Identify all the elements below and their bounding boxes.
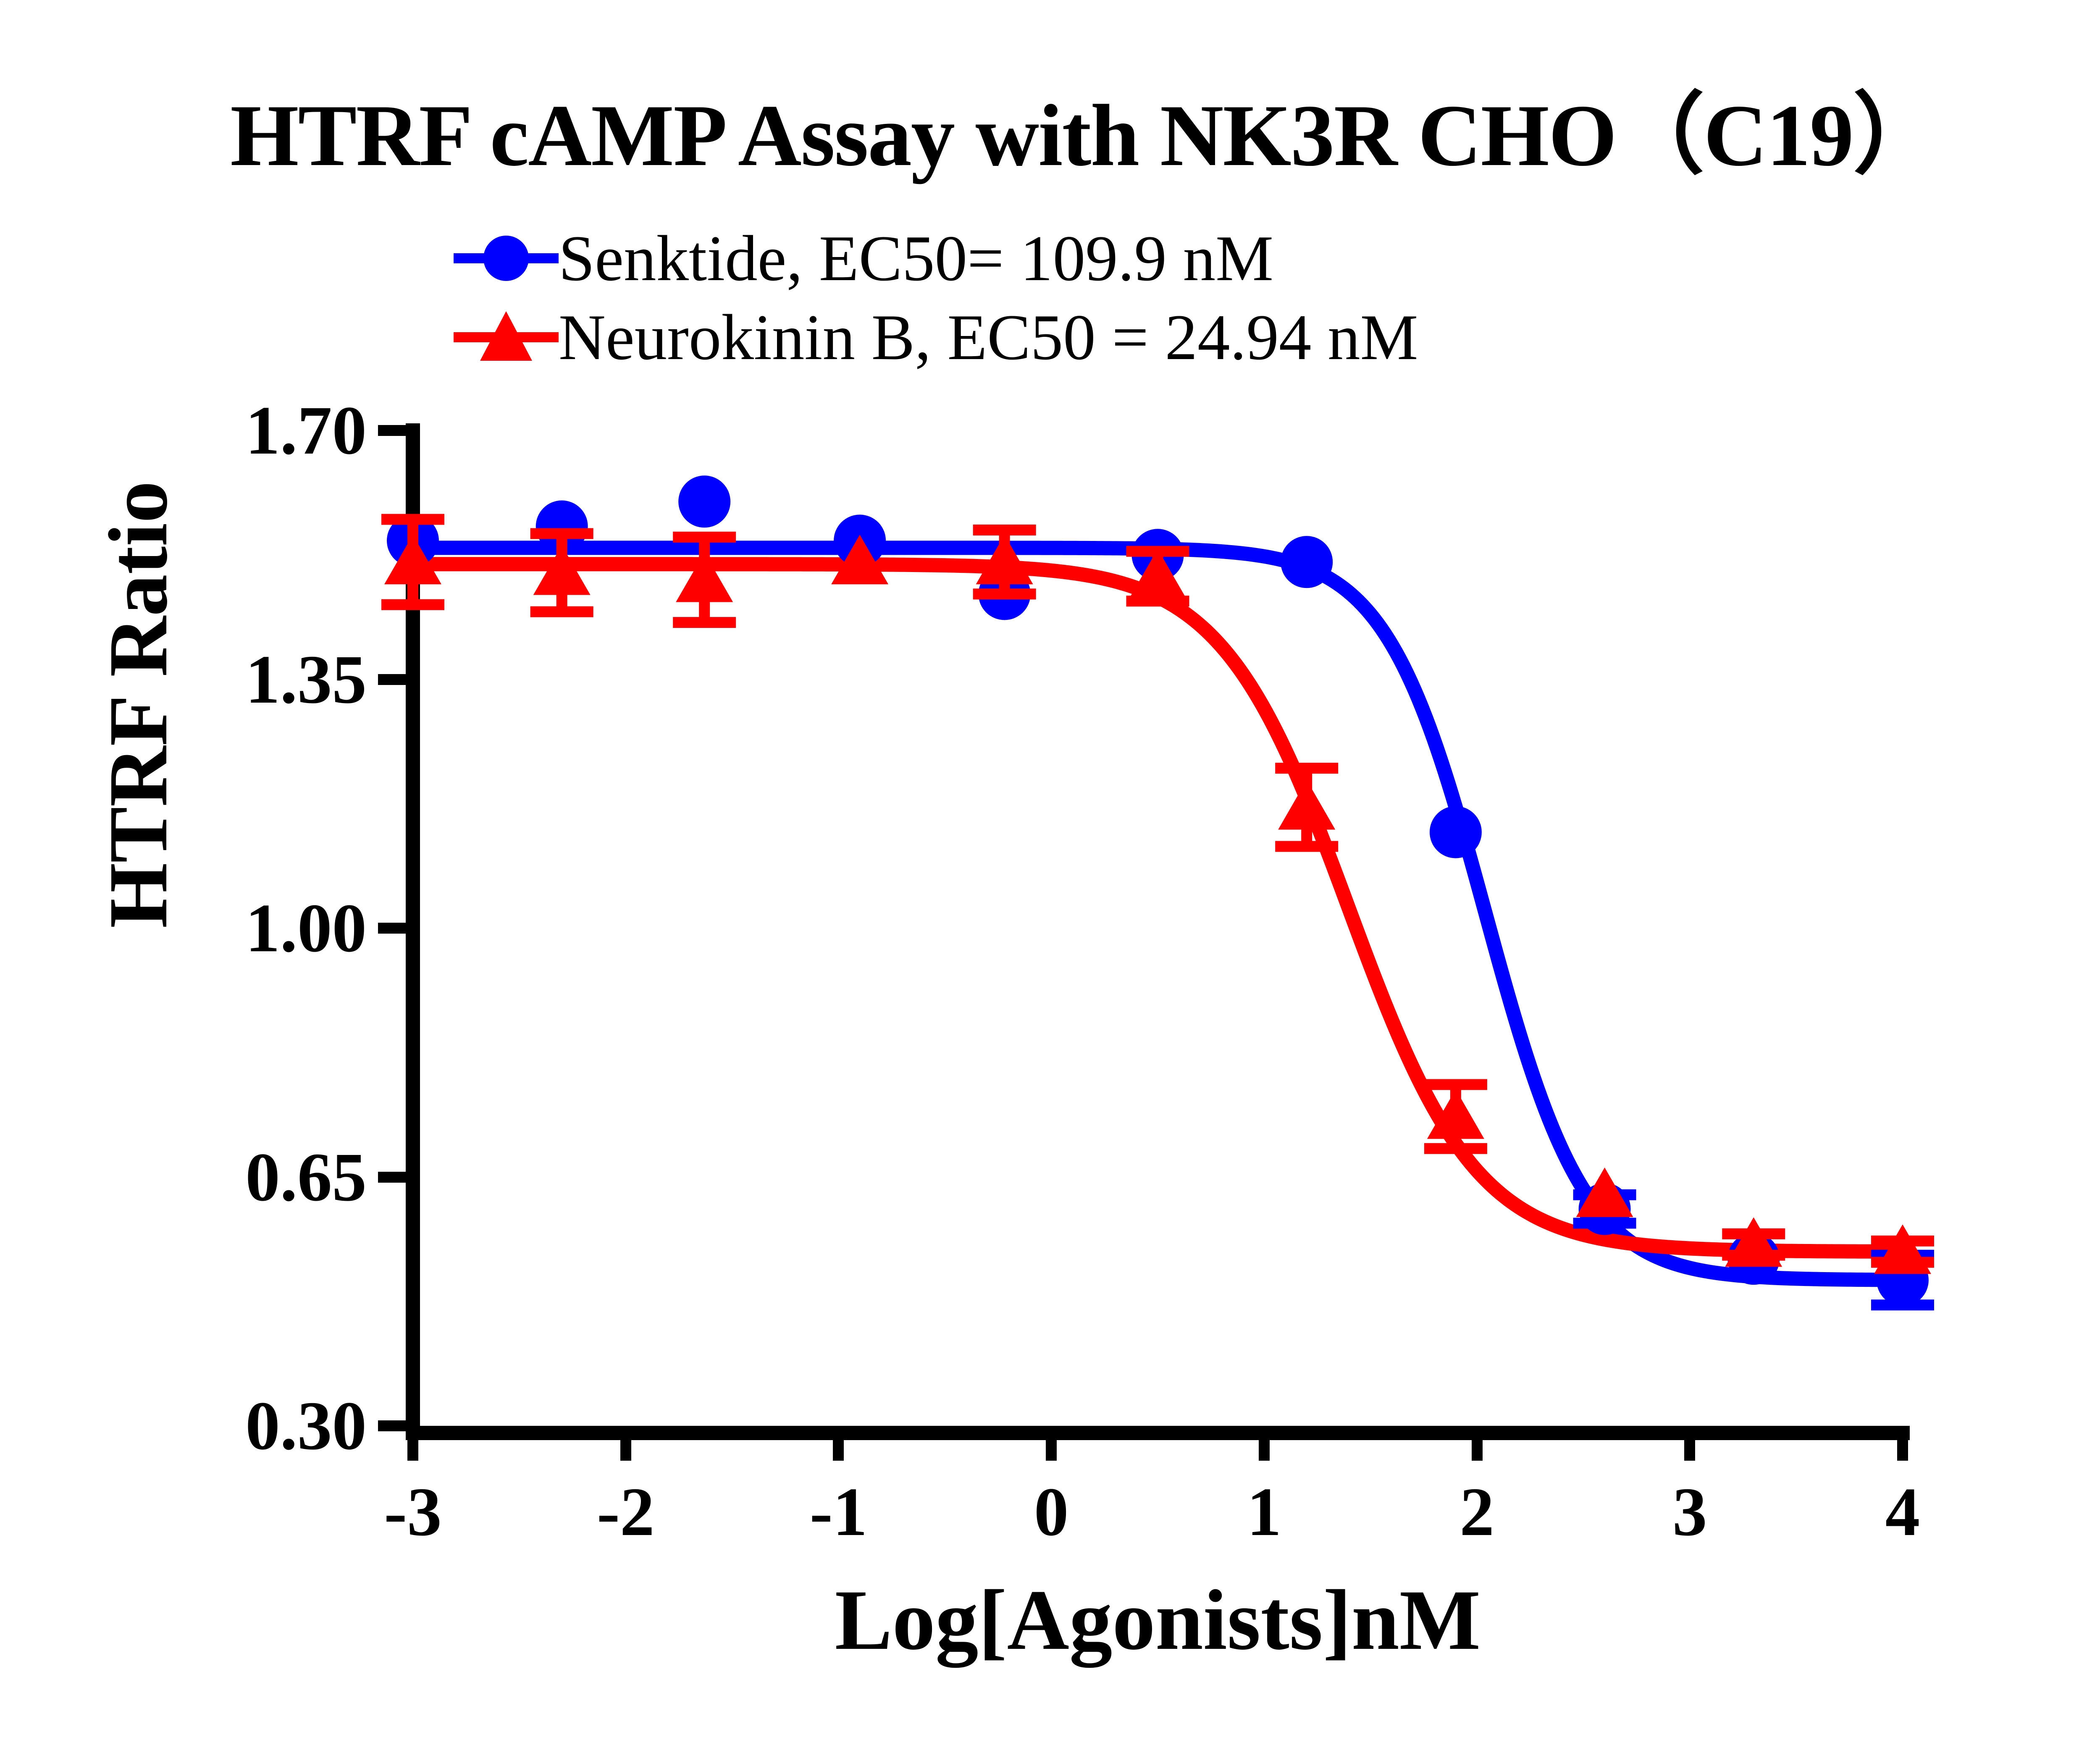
x-tick-label: 3: [1672, 1472, 1707, 1552]
y-axis-line: [406, 423, 420, 1433]
legend-label-senktide: Senktide, EC50= 109.9 nM: [559, 221, 1273, 296]
x-tick-mark: [1472, 1433, 1483, 1461]
x-tick-mark: [1046, 1433, 1057, 1461]
y-tick-label: 1.70: [245, 391, 367, 470]
y-tick-mark: [378, 1420, 406, 1431]
x-tick-mark: [833, 1433, 844, 1461]
x-tick-label: 1: [1247, 1472, 1282, 1552]
legend-item-senktide: Senktide, EC50= 109.9 nM: [454, 227, 1418, 290]
x-tick-label: -2: [597, 1472, 654, 1552]
y-tick-mark: [378, 1172, 406, 1183]
x-tick-label: -3: [384, 1472, 441, 1552]
legend-marker-triangle-icon: [454, 306, 559, 369]
y-tick-label: 1.35: [245, 640, 367, 719]
x-tick-label: 0: [1034, 1472, 1069, 1552]
x-tick-label: 4: [1885, 1472, 1920, 1552]
x-tick-mark: [1897, 1433, 1908, 1461]
legend-label-neurokinin-b: Neurokinin B, EC50 = 24.94 nM: [559, 300, 1418, 375]
page-title: HTRF cAMP Assay with NK3R CHO（C19）: [0, 63, 2100, 191]
legend-marker-circle-icon: [454, 227, 559, 290]
x-tick-mark: [1684, 1433, 1695, 1461]
x-axis-title: Log[Agonists]nM: [413, 1571, 1903, 1670]
x-tick-mark: [407, 1433, 418, 1461]
y-axis-title: HTRF Ratio: [90, 481, 186, 928]
plot-area: 1.701.351.000.650.30 -3-2-101234: [413, 430, 1903, 1426]
y-tick-label: 0.65: [245, 1137, 367, 1217]
legend-item-neurokinin-b: Neurokinin B, EC50 = 24.94 nM: [454, 306, 1418, 369]
x-tick-label: 2: [1459, 1472, 1494, 1552]
y-tick-mark: [378, 425, 406, 436]
y-tick-label: 0.30: [245, 1386, 367, 1466]
chart-legend: Senktide, EC50= 109.9 nM Neurokinin B, E…: [454, 227, 1418, 369]
x-tick-mark: [1259, 1433, 1270, 1461]
chart-figure: HTRF cAMP Assay with NK3R CHO（C19） Senkt…: [0, 0, 2100, 1753]
x-tick-label: -1: [810, 1472, 867, 1552]
y-tick-mark: [378, 674, 406, 685]
y-tick-label: 1.00: [245, 888, 367, 968]
y-tick-mark: [378, 923, 406, 934]
x-tick-mark: [620, 1433, 631, 1461]
